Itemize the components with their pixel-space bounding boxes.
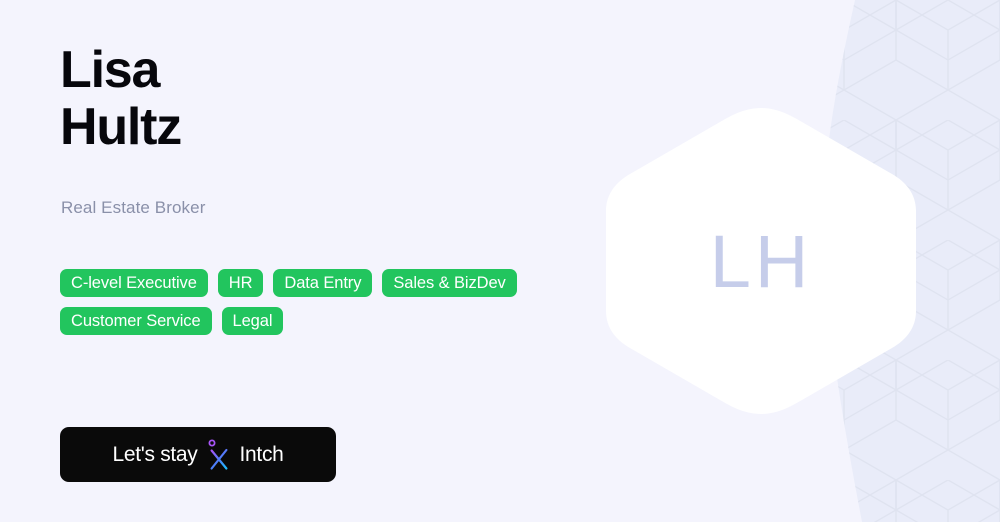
avatar: LH	[604, 106, 918, 416]
profile-card: LH Lisa Hultz Real Estate Broker C-level…	[0, 0, 1000, 522]
intch-n-logo-icon	[206, 439, 232, 471]
lets-stay-intch-button[interactable]: Let's stay Intch	[60, 427, 336, 482]
profile-job-title: Real Estate Broker	[61, 198, 205, 218]
page-title: Lisa Hultz	[60, 42, 181, 156]
cta-label-after: Intch	[240, 444, 284, 465]
profile-content: Lisa Hultz Real Estate Broker C-level Ex…	[60, 0, 600, 522]
cta-label-before: Let's stay	[112, 444, 197, 465]
avatar-initials: LH	[604, 106, 918, 416]
skill-tag[interactable]: Data Entry	[273, 269, 372, 297]
skill-tag[interactable]: Customer Service	[60, 307, 212, 335]
skill-tag[interactable]: Sales & BizDev	[382, 269, 516, 297]
skill-tag[interactable]: HR	[218, 269, 264, 297]
skill-tag-list: C-level Executive HR Data Entry Sales & …	[60, 269, 580, 335]
skill-tag[interactable]: Legal	[222, 307, 284, 335]
skill-tag[interactable]: C-level Executive	[60, 269, 208, 297]
